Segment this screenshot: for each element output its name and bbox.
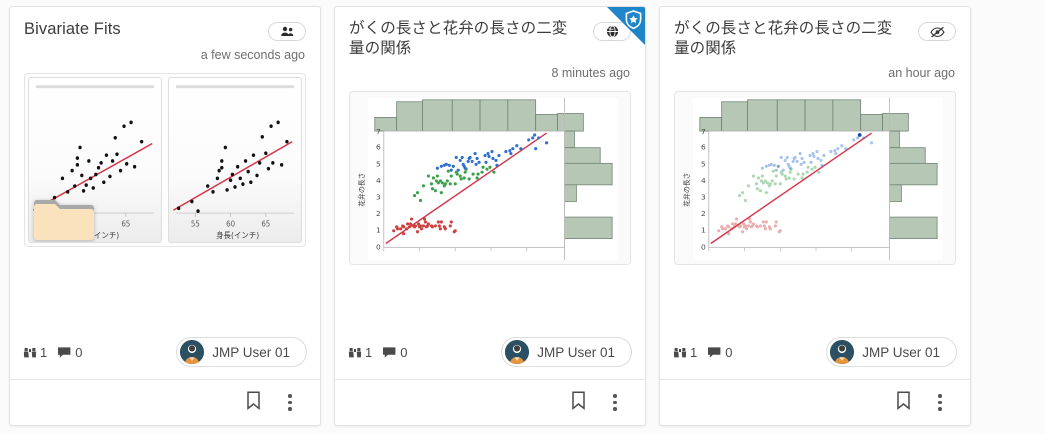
svg-text:3: 3 (701, 193, 706, 202)
svg-text:65: 65 (121, 219, 130, 228)
card-title: がくの長さと花弁の長さの二変量の関係 (674, 19, 899, 59)
comments-count: 0 (75, 345, 82, 360)
card-header: がくの長さと花弁の長さの二変量の関係 an hour ago (660, 7, 970, 80)
binoculars-icon (348, 346, 362, 359)
scatter-plot-right: 55 60 65 身長(インチ) (169, 78, 301, 242)
svg-text:60: 60 (226, 219, 235, 228)
card-title: がくの長さと花弁の長さの二変量の関係 (349, 19, 574, 59)
card-stats: 1 0 (10, 337, 320, 379)
card-owner[interactable]: JMP User 01 (501, 337, 632, 367)
views-stat: 1 (673, 345, 697, 360)
card-timestamp: a few seconds ago (24, 48, 306, 62)
svg-text:55: 55 (191, 219, 200, 228)
more-options-button[interactable] (605, 392, 625, 414)
scatter-with-marginal-histograms-faded: 765 432 10 花弁の長さ (675, 92, 955, 264)
comment-icon (382, 346, 397, 359)
shield-star-icon (625, 10, 642, 29)
eye-off-icon (930, 26, 945, 38)
views-stat: 1 (348, 345, 372, 360)
svg-text:5: 5 (376, 160, 381, 169)
views-count: 1 (40, 345, 47, 360)
visibility-toggle-hidden[interactable] (918, 22, 956, 41)
card-thumbnail[interactable]: 765 432 10 花弁の長さ (349, 91, 631, 265)
bookmark-button[interactable] (243, 392, 263, 414)
svg-text:4: 4 (701, 176, 706, 185)
dashboard-card-grid: Bivariate Fits a few seconds ago (0, 0, 1045, 434)
svg-text:4: 4 (376, 176, 381, 185)
kebab-menu-icon (613, 394, 617, 411)
avatar (180, 340, 204, 364)
avatar (505, 340, 529, 364)
comments-count: 0 (725, 345, 732, 360)
svg-text:65: 65 (261, 219, 270, 228)
visibility-toggle-people[interactable] (268, 22, 306, 41)
owner-name: JMP User 01 (537, 345, 615, 360)
svg-text:花弁の長さ: 花弁の長さ (357, 173, 366, 207)
card-owner[interactable]: JMP User 01 (826, 337, 957, 367)
card-title: Bivariate Fits (24, 19, 121, 41)
kebab-menu-icon (288, 394, 292, 411)
views-count: 1 (690, 345, 697, 360)
bookmark-button[interactable] (568, 392, 588, 414)
owner-name: JMP User 01 (862, 345, 940, 360)
card-sepal-petal-public[interactable]: がくの長さと花弁の長さの二変量の関係 8 minutes ago (334, 6, 646, 426)
card-action-bar (10, 379, 320, 425)
binoculars-icon (23, 346, 37, 359)
comment-icon (57, 346, 72, 359)
comments-count: 0 (400, 345, 407, 360)
card-action-bar (335, 379, 645, 425)
more-options-button[interactable] (280, 392, 300, 414)
svg-text:1: 1 (376, 226, 381, 235)
views-count: 1 (365, 345, 372, 360)
card-action-bar (660, 379, 970, 425)
card-timestamp: 8 minutes ago (349, 66, 631, 80)
card-owner[interactable]: JMP User 01 (176, 337, 307, 367)
views-stat: 1 (23, 345, 47, 360)
card-header: がくの長さと花弁の長さの二変量の関係 8 minutes ago (335, 7, 645, 80)
more-options-button[interactable] (930, 392, 950, 414)
svg-text:7: 7 (701, 127, 706, 136)
svg-text:2: 2 (376, 209, 381, 218)
card-stats: 1 0 (660, 337, 970, 379)
bookmark-icon (246, 391, 261, 415)
comment-icon (707, 346, 722, 359)
avatar (830, 340, 854, 364)
svg-text:3: 3 (376, 193, 381, 202)
card-timestamp: an hour ago (674, 66, 956, 80)
card-sepal-petal-hidden[interactable]: がくの長さと花弁の長さの二変量の関係 an hour ago (659, 6, 971, 426)
comments-stat: 0 (382, 345, 407, 360)
bookmark-button[interactable] (893, 392, 913, 414)
binoculars-icon (673, 346, 687, 359)
comments-stat: 0 (707, 345, 732, 360)
kebab-menu-icon (938, 394, 942, 411)
scatter-with-marginal-histograms: 765 432 10 花弁の長さ (350, 92, 630, 264)
svg-text:身長(インチ): 身長(インチ) (216, 230, 259, 240)
card-header: Bivariate Fits a few seconds ago (10, 7, 320, 62)
card-bivariate-fits[interactable]: Bivariate Fits a few seconds ago (9, 6, 321, 426)
thumbnail-plot-left: 60 65 身長(インチ) (28, 77, 162, 243)
bookmark-icon (571, 391, 586, 415)
svg-text:6: 6 (701, 143, 706, 152)
folder-icon (32, 193, 96, 241)
card-stats: 1 0 (335, 337, 645, 379)
people-icon (280, 26, 294, 37)
svg-text:0: 0 (701, 243, 706, 252)
svg-text:2: 2 (701, 209, 706, 218)
svg-text:7: 7 (376, 127, 381, 136)
svg-text:6: 6 (376, 143, 381, 152)
svg-text:1: 1 (701, 226, 706, 235)
comments-stat: 0 (57, 345, 82, 360)
svg-text:0: 0 (376, 243, 381, 252)
svg-text:花弁の長さ: 花弁の長さ (682, 173, 691, 207)
owner-name: JMP User 01 (212, 345, 290, 360)
svg-text:5: 5 (701, 160, 706, 169)
thumbnail-plot-right: 55 60 65 身長(インチ) (168, 77, 302, 243)
bookmark-icon (896, 391, 911, 415)
card-thumbnail[interactable]: 765 432 10 花弁の長さ (674, 91, 956, 265)
card-thumbnail[interactable]: 60 65 身長(インチ) (24, 73, 306, 247)
